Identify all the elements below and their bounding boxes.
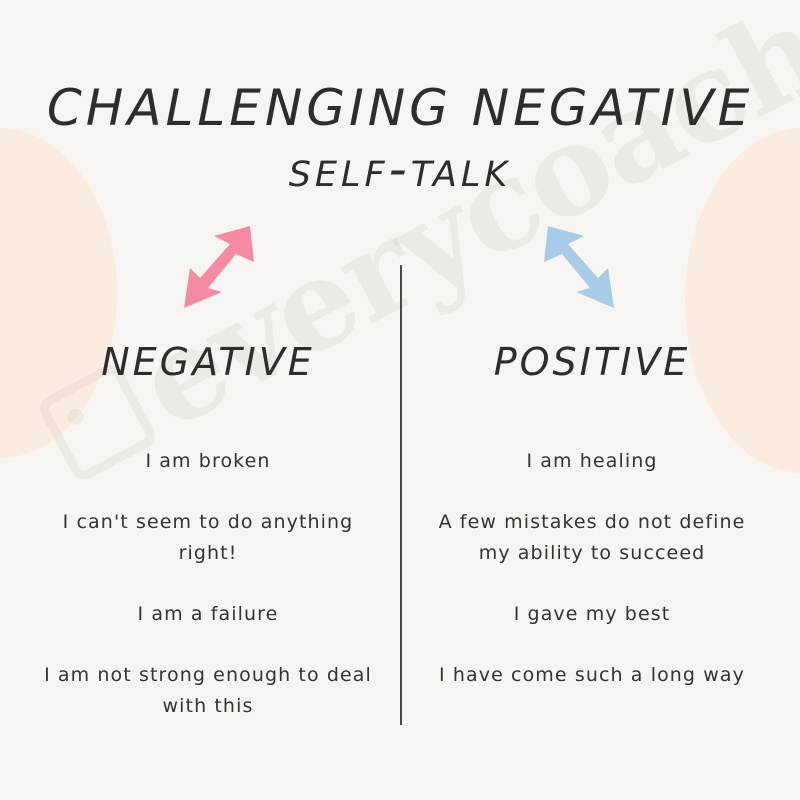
- column-divider: [400, 265, 402, 725]
- statement-list-negative: I am broken I can't seem to do anything …: [28, 446, 388, 722]
- list-item: I can't seem to do anything right!: [28, 507, 388, 569]
- list-item: I am a failure: [28, 599, 388, 630]
- page-title: CHALLENGING NEGATIVE Self-Talk: [0, 78, 800, 200]
- statement-list-positive: I am healing A few mistakes do not defin…: [412, 446, 772, 691]
- page-title-line-2: Self-Talk: [0, 138, 800, 200]
- arrow-down-right-icon: [540, 222, 620, 316]
- list-item: I have come such a long way: [412, 660, 772, 691]
- column-positive: POSITIVE I am healing A few mistakes do …: [412, 340, 772, 691]
- list-item: I am broken: [28, 446, 388, 477]
- arrow-down-left-icon: [178, 222, 258, 316]
- list-item: A few mistakes do not define my ability …: [412, 507, 772, 569]
- list-item: I gave my best: [412, 599, 772, 630]
- column-heading-positive: POSITIVE: [412, 340, 772, 384]
- page-title-line-1: CHALLENGING NEGATIVE: [0, 78, 800, 138]
- list-item: I am not strong enough to deal with this: [28, 660, 388, 722]
- list-item: I am healing: [412, 446, 772, 477]
- poster-canvas: everycoach CHALLENGING NEGATIVE Self-Tal…: [0, 0, 800, 800]
- column-negative: NEGATIVE I am broken I can't seem to do …: [28, 340, 388, 722]
- column-heading-negative: NEGATIVE: [28, 340, 388, 384]
